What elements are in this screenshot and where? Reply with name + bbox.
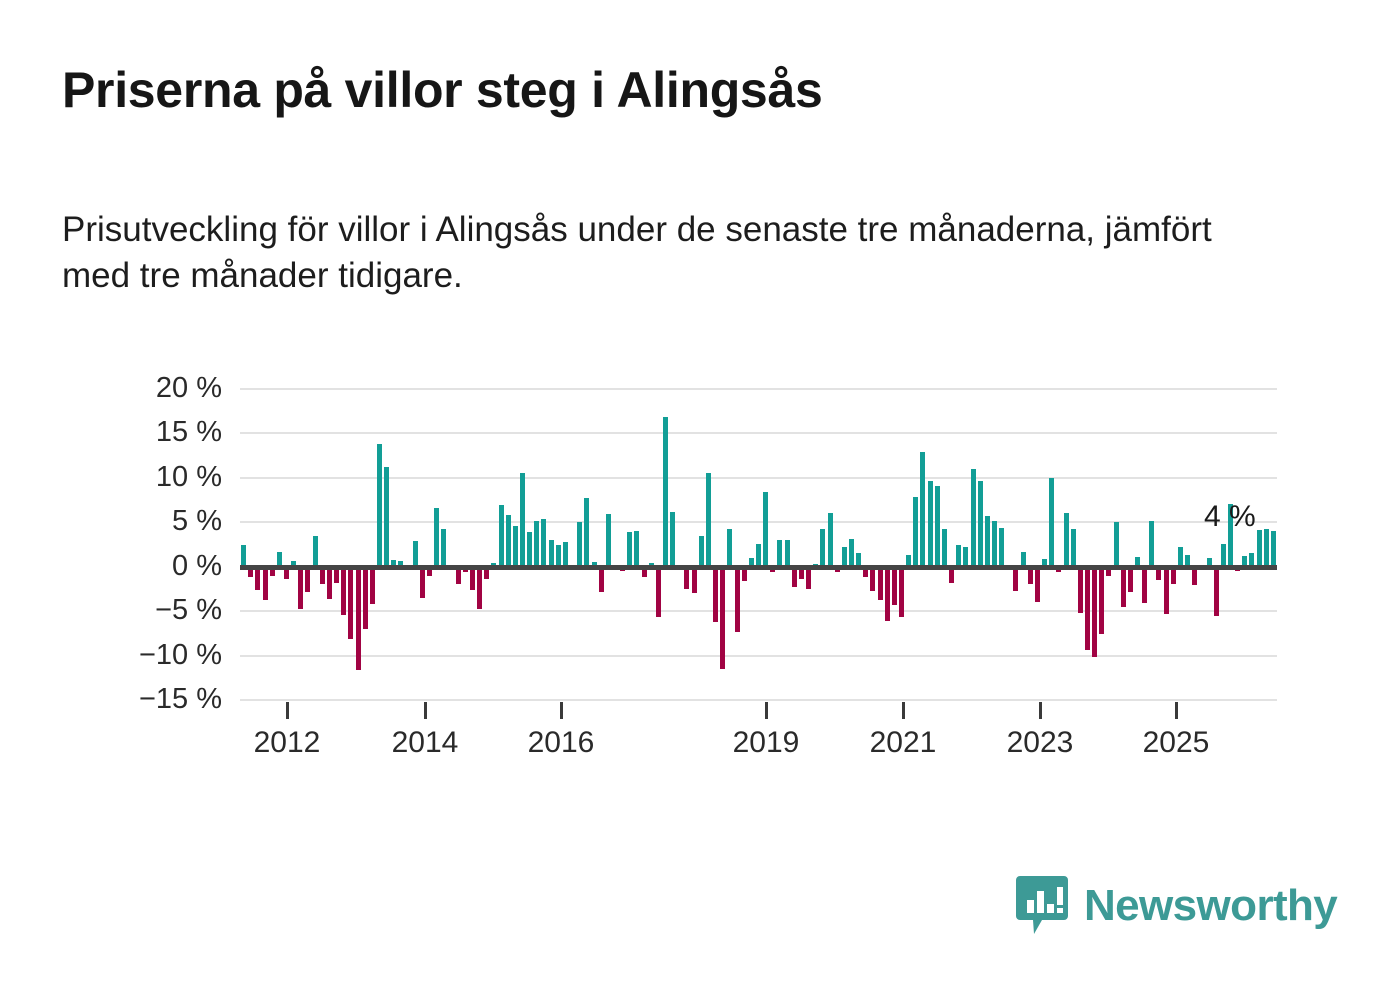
y-axis-tick-label: 10 % (102, 463, 222, 492)
bar (527, 532, 532, 567)
x-axis-tick (1175, 702, 1178, 719)
bar (341, 567, 346, 615)
bar (513, 526, 518, 567)
bar (348, 567, 353, 639)
bar (584, 498, 589, 566)
x-axis-tick-label: 2014 (392, 728, 459, 758)
bar (670, 512, 675, 567)
bar (541, 519, 546, 567)
zero-baseline (240, 565, 1277, 570)
x-axis-tick (1039, 702, 1042, 719)
bar (971, 469, 976, 567)
bar (878, 567, 883, 601)
bar (985, 516, 990, 567)
bar (885, 567, 890, 621)
bar (327, 567, 332, 599)
bar (420, 567, 425, 598)
bar (692, 567, 697, 594)
bar (1114, 522, 1119, 566)
y-axis-tick-label: −5 % (102, 596, 222, 625)
bar (777, 540, 782, 567)
bar-chart-speech-bubble-icon (1014, 874, 1070, 938)
bar (656, 567, 661, 618)
bar (1221, 544, 1226, 567)
bar (756, 544, 761, 567)
bar (470, 567, 475, 590)
bar (978, 481, 983, 566)
x-axis-tick-label: 2021 (870, 728, 937, 758)
bar (1142, 567, 1147, 603)
bar (806, 567, 811, 589)
bar (663, 417, 668, 566)
bar (370, 567, 375, 604)
bar (241, 545, 246, 566)
bar (606, 514, 611, 566)
bar (477, 567, 482, 610)
bar (499, 505, 504, 566)
bar (627, 532, 632, 567)
bar (727, 529, 732, 567)
bar (599, 567, 604, 592)
bar (1049, 478, 1054, 567)
bar (1164, 567, 1169, 614)
bar (384, 467, 389, 567)
y-axis-tick-label: 5 % (102, 507, 222, 536)
bar (363, 567, 368, 629)
bar (1035, 567, 1040, 603)
bar (713, 567, 718, 622)
x-axis-tick (902, 702, 905, 719)
y-axis-tick-label: −15 % (102, 685, 222, 714)
bar (1099, 567, 1104, 635)
logo-wordmark: Newsworthy (1084, 884, 1337, 928)
x-axis-tick-label: 2023 (1007, 728, 1074, 758)
bar (849, 539, 854, 567)
bar (1128, 567, 1133, 593)
bar (1264, 529, 1269, 566)
bar (699, 536, 704, 567)
bar (892, 567, 897, 605)
bar (506, 515, 511, 567)
bar (992, 521, 997, 567)
bar (1078, 567, 1083, 613)
bar (434, 508, 439, 567)
bar (1013, 567, 1018, 591)
bar (1214, 567, 1219, 616)
x-axis-tick (286, 702, 289, 719)
x-axis-tick (765, 702, 768, 719)
bar (520, 473, 525, 566)
bar (534, 521, 539, 567)
bar (377, 444, 382, 567)
x-axis-tick (424, 702, 427, 719)
bar (735, 567, 740, 633)
y-axis-tick-label: 0 % (102, 552, 222, 581)
last-value-annotation: 4 % (1204, 502, 1256, 532)
bar (1121, 567, 1126, 607)
bar (870, 567, 875, 591)
bar (928, 481, 933, 566)
y-axis-tick-label: −10 % (102, 641, 222, 670)
bar (720, 567, 725, 669)
bar (577, 522, 582, 566)
bar (820, 529, 825, 567)
bar (313, 536, 318, 567)
bar (1257, 530, 1262, 566)
bar (356, 567, 361, 670)
bar (763, 492, 768, 567)
bar (935, 486, 940, 567)
bar (899, 567, 904, 618)
bar (956, 545, 961, 567)
bar (999, 528, 1004, 567)
bar (1064, 513, 1069, 566)
bar (1092, 567, 1097, 658)
bar (1149, 521, 1154, 566)
bar (1085, 567, 1090, 651)
bar (913, 497, 918, 567)
x-axis-tick-label: 2016 (528, 728, 595, 758)
bar (706, 473, 711, 567)
bar (298, 567, 303, 610)
bar (263, 567, 268, 601)
newsworthy-logo: Newsworthy (1014, 874, 1337, 938)
bar (785, 540, 790, 567)
infographic-page: Priserna på villor steg i Alingsås Prisu… (0, 0, 1382, 999)
plot-area (240, 389, 1277, 700)
x-axis-tick-label: 2019 (733, 728, 800, 758)
bar (441, 529, 446, 567)
bar (255, 567, 260, 590)
y-axis-tick-label: 20 % (102, 374, 222, 403)
x-axis-tick (560, 702, 563, 719)
x-axis-tick-label: 2025 (1143, 728, 1210, 758)
bar (634, 531, 639, 567)
bar (413, 541, 418, 567)
bar (305, 567, 310, 593)
bar (1271, 531, 1276, 567)
bar-series (240, 389, 1277, 700)
bar (549, 540, 554, 567)
x-axis-tick-label: 2012 (254, 728, 321, 758)
bar (942, 529, 947, 567)
bar (792, 567, 797, 587)
bar (563, 542, 568, 567)
bar (1071, 529, 1076, 566)
bar (556, 545, 561, 566)
bar-chart: 20 %15 %10 %5 %0 %−5 %−10 %−15 % 2012201… (0, 0, 1382, 999)
bar (920, 452, 925, 567)
bar (828, 513, 833, 566)
y-axis-tick-label: 15 % (102, 418, 222, 447)
bar (684, 567, 689, 589)
